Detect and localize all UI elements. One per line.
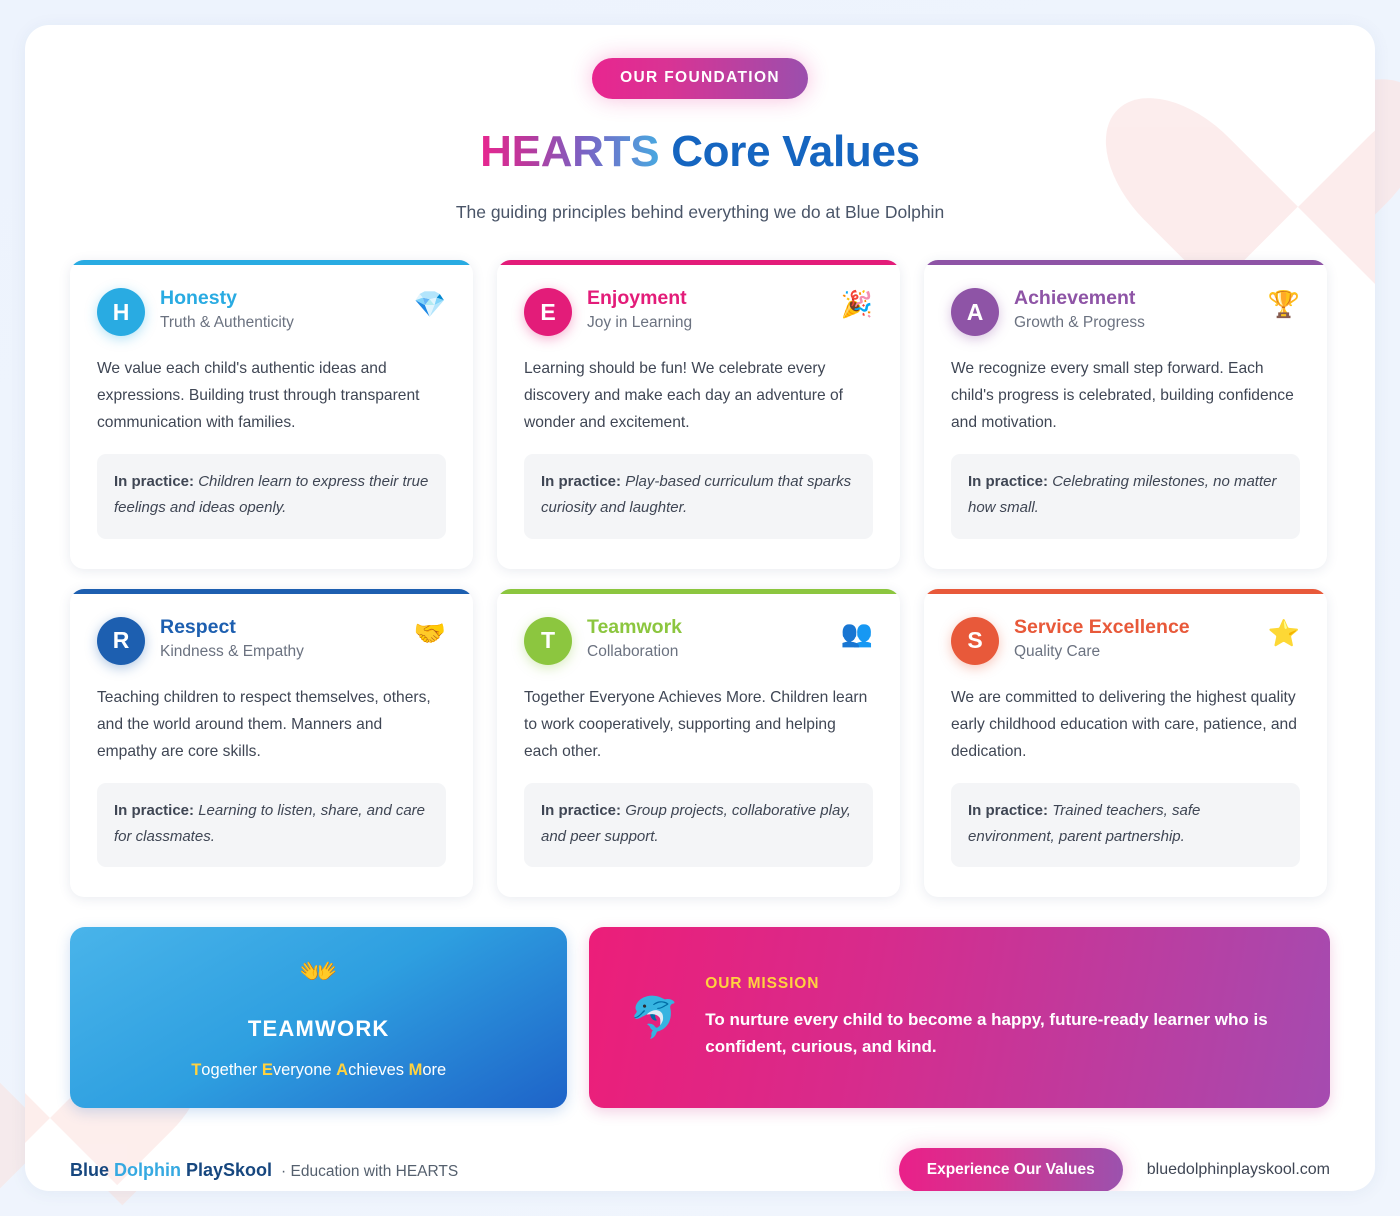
acronym-letter: E bbox=[262, 1061, 273, 1079]
value-name: Service Excellence bbox=[1014, 616, 1253, 638]
acronym-rest: ore bbox=[422, 1061, 446, 1079]
website-url[interactable]: bluedolphinplayskool.com bbox=[1147, 1161, 1330, 1179]
title-rest-word: Core Values bbox=[659, 127, 920, 176]
value-subtitle: Quality Care bbox=[1014, 643, 1253, 661]
practice-label: In practice: bbox=[114, 473, 194, 490]
value-card: SService ExcellenceQuality Care⭐We are c… bbox=[924, 589, 1327, 898]
value-subtitle: Joy in Learning bbox=[587, 314, 826, 332]
value-description: We are committed to delivering the highe… bbox=[951, 684, 1300, 765]
value-letter-badge: T bbox=[524, 617, 572, 665]
page-header: OUR FOUNDATION HEARTS Core Values The gu… bbox=[25, 25, 1375, 223]
busts-in-silhouette-icon: 👥 bbox=[841, 621, 873, 647]
foundation-badge: OUR FOUNDATION bbox=[592, 58, 808, 99]
brand-word-dolphin: Dolphin bbox=[114, 1160, 186, 1180]
acronym-rest: chieves bbox=[348, 1061, 409, 1079]
value-practice-box: In practice: Learning to listen, share, … bbox=[97, 783, 446, 867]
brand-word-blue: Blue bbox=[70, 1160, 114, 1180]
value-name: Enjoyment bbox=[587, 287, 826, 309]
card-header: AAchievementGrowth & Progress🏆 bbox=[951, 286, 1300, 336]
card-accent-bar bbox=[70, 260, 473, 265]
star-icon: ⭐ bbox=[1268, 621, 1300, 647]
value-card: TTeamworkCollaboration👥Together Everyone… bbox=[497, 589, 900, 898]
experience-our-values-button[interactable]: Experience Our Values bbox=[899, 1148, 1123, 1191]
value-description: Together Everyone Achieves More. Childre… bbox=[524, 684, 873, 765]
page-footer: Blue Dolphin PlaySkool· Education with H… bbox=[25, 1148, 1375, 1191]
practice-label: In practice: bbox=[968, 802, 1048, 819]
acronym-letter: T bbox=[191, 1061, 201, 1079]
value-subtitle: Growth & Progress bbox=[1014, 314, 1253, 332]
value-description: We value each child's authentic ideas an… bbox=[97, 355, 446, 436]
card-accent-bar bbox=[70, 589, 473, 594]
mission-text: To nurture every child to become a happy… bbox=[705, 1006, 1290, 1060]
brand-lockup: Blue Dolphin PlaySkool· Education with H… bbox=[70, 1160, 458, 1181]
acronym-letter: A bbox=[336, 1061, 348, 1079]
value-letter-badge: R bbox=[97, 617, 145, 665]
teamwork-heading: TEAMWORK bbox=[90, 1016, 547, 1042]
value-subtitle: Collaboration bbox=[587, 643, 826, 661]
value-description: We recognize every small step forward. E… bbox=[951, 355, 1300, 436]
mission-label: OUR MISSION bbox=[705, 975, 1290, 993]
value-letter-badge: H bbox=[97, 288, 145, 336]
gem-icon: 💎 bbox=[414, 292, 446, 318]
value-card: HHonestyTruth & Authenticity💎We value ea… bbox=[70, 260, 473, 569]
acronym-rest: ogether bbox=[201, 1061, 262, 1079]
value-description: Learning should be fun! We celebrate eve… bbox=[524, 355, 873, 436]
value-name: Teamwork bbox=[587, 616, 826, 638]
title-accent-word: HEARTS bbox=[480, 127, 659, 176]
value-letter-badge: A bbox=[951, 288, 999, 336]
card-header: SService ExcellenceQuality Care⭐ bbox=[951, 615, 1300, 665]
acronym-rest: veryone bbox=[273, 1061, 336, 1079]
teamwork-panel: 👐 TEAMWORK Together Everyone Achieves Mo… bbox=[70, 927, 567, 1108]
practice-label: In practice: bbox=[541, 473, 621, 490]
value-name: Respect bbox=[160, 616, 399, 638]
practice-label: In practice: bbox=[968, 473, 1048, 490]
brand-word-playskool: PlaySkool bbox=[186, 1160, 272, 1180]
card-accent-bar bbox=[497, 260, 900, 265]
card-header: TTeamworkCollaboration👥 bbox=[524, 615, 873, 665]
value-letter-badge: E bbox=[524, 288, 572, 336]
page-subtitle: The guiding principles behind everything… bbox=[25, 202, 1375, 223]
card-header: RRespectKindness & Empathy🤝 bbox=[97, 615, 446, 665]
card-accent-bar bbox=[924, 260, 1327, 265]
party-popper-icon: 🎉 bbox=[841, 292, 873, 318]
value-subtitle: Kindness & Empathy bbox=[160, 643, 399, 661]
mission-panel: 🐬 OUR MISSION To nurture every child to … bbox=[589, 927, 1330, 1108]
value-card: EEnjoymentJoy in Learning🎉Learning shoul… bbox=[497, 260, 900, 569]
card-accent-bar bbox=[924, 589, 1327, 594]
value-name: Honesty bbox=[160, 287, 399, 309]
main-sheet: OUR FOUNDATION HEARTS Core Values The gu… bbox=[25, 25, 1375, 1191]
trophy-icon: 🏆 bbox=[1268, 292, 1300, 318]
value-practice-box: In practice: Celebrating milestones, no … bbox=[951, 454, 1300, 538]
value-practice-box: In practice: Trained teachers, safe envi… bbox=[951, 783, 1300, 867]
value-description: Teaching children to respect themselves,… bbox=[97, 684, 446, 765]
value-card: RRespectKindness & Empathy🤝Teaching chil… bbox=[70, 589, 473, 898]
page-root: OUR FOUNDATION HEARTS Core Values The gu… bbox=[0, 0, 1400, 1216]
teamwork-acronym: Together Everyone Achieves More bbox=[90, 1061, 547, 1080]
bottom-panels: 👐 TEAMWORK Together Everyone Achieves Mo… bbox=[25, 927, 1375, 1108]
value-practice-box: In practice: Children learn to express t… bbox=[97, 454, 446, 538]
value-name: Achievement bbox=[1014, 287, 1253, 309]
values-grid: HHonestyTruth & Authenticity💎We value ea… bbox=[25, 260, 1375, 897]
brand-tagline: · Education with HEARTS bbox=[281, 1163, 458, 1180]
value-subtitle: Truth & Authenticity bbox=[160, 314, 399, 332]
card-header: EEnjoymentJoy in Learning🎉 bbox=[524, 286, 873, 336]
value-practice-box: In practice: Group projects, collaborati… bbox=[524, 783, 873, 867]
acronym-letter: M bbox=[409, 1061, 423, 1079]
value-letter-badge: S bbox=[951, 617, 999, 665]
card-accent-bar bbox=[497, 589, 900, 594]
value-card: AAchievementGrowth & Progress🏆We recogni… bbox=[924, 260, 1327, 569]
practice-label: In practice: bbox=[541, 802, 621, 819]
open-hands-icon: 👐 bbox=[90, 957, 547, 988]
page-title: HEARTS Core Values bbox=[25, 127, 1375, 177]
card-header: HHonestyTruth & Authenticity💎 bbox=[97, 286, 446, 336]
handshake-icon: 🤝 bbox=[414, 621, 446, 647]
practice-label: In practice: bbox=[114, 802, 194, 819]
footer-actions: Experience Our Values bluedolphinplaysko… bbox=[899, 1148, 1330, 1191]
dolphin-icon: 🐬 bbox=[629, 998, 679, 1038]
value-practice-box: In practice: Play-based curriculum that … bbox=[524, 454, 873, 538]
